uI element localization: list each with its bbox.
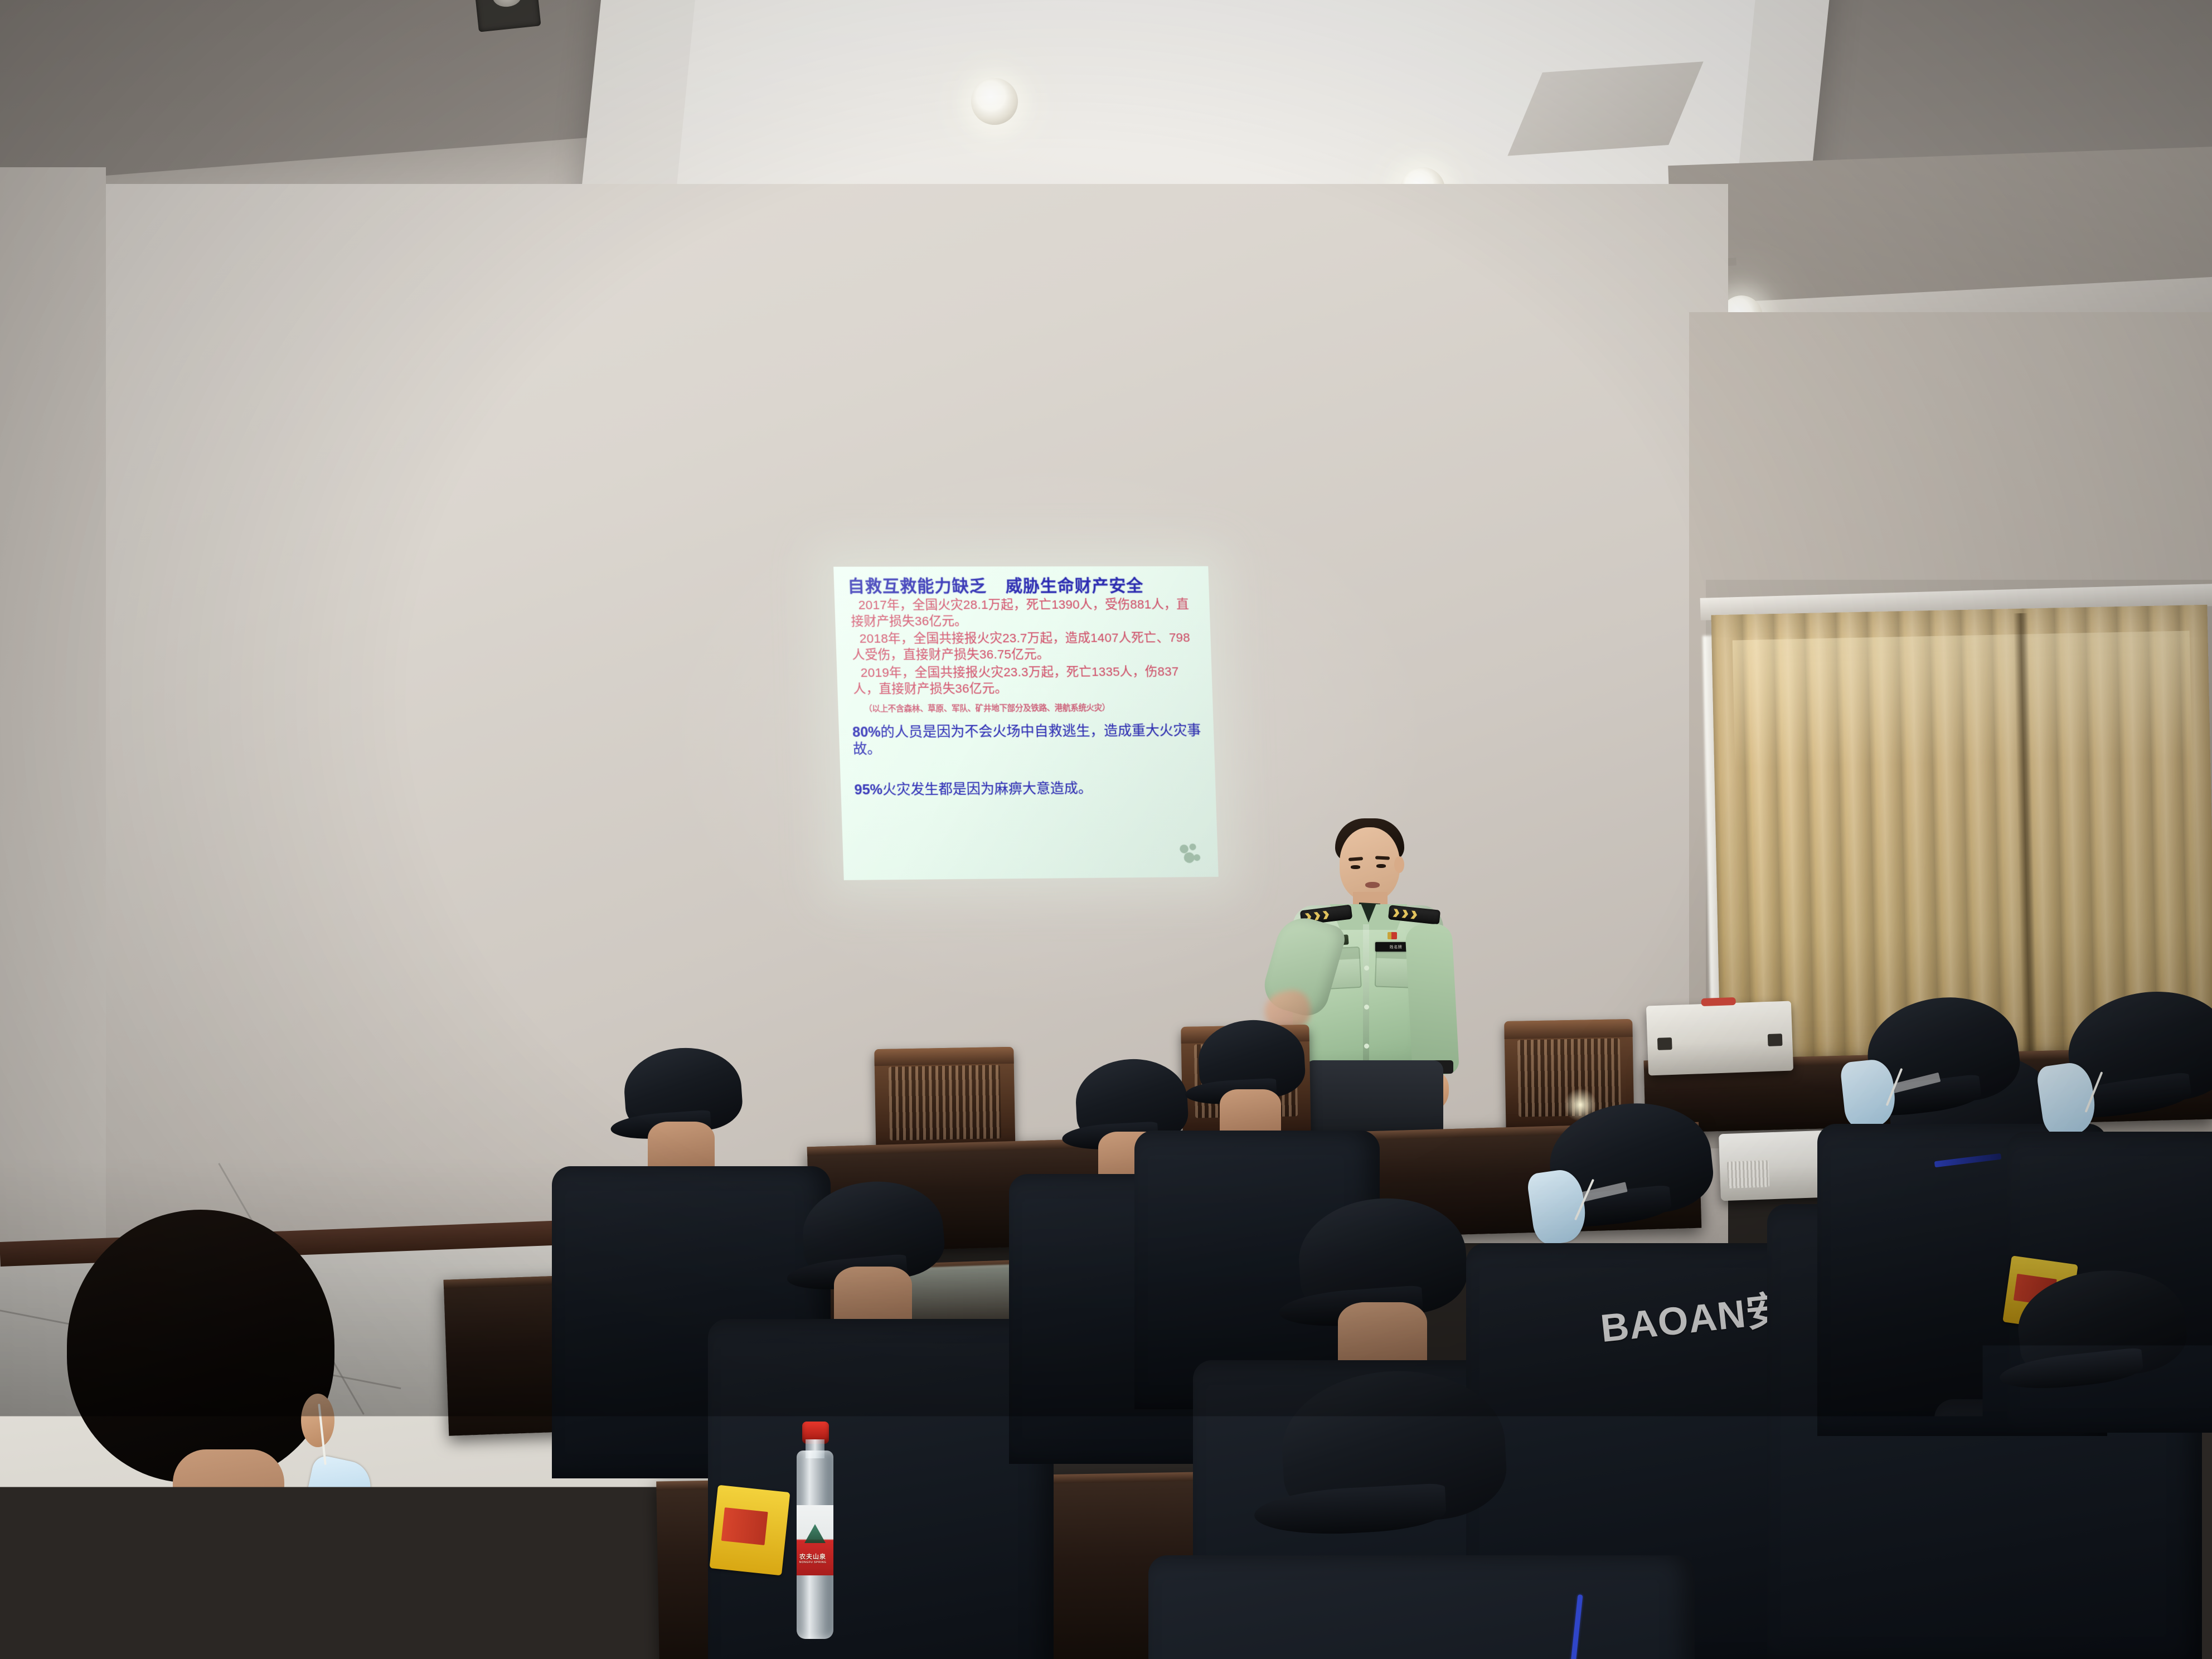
slide-stat-2017: 2017年，全国火灾28.1万起，死亡1390人，受伤881人，直接财产损失36… (850, 596, 1200, 629)
corner-emblem-icon (1174, 838, 1206, 869)
slide-highlight-95: 95%火灾发生都是因为麻痹大意造成。 (854, 780, 1206, 799)
slide-highlight-95-text: 火灾发生都是因为麻痹大意造成。 (882, 780, 1093, 798)
torso (1148, 1555, 1695, 1659)
civilian-shirt (0, 1533, 424, 1659)
slide-highlight-95-pct: 95% (854, 782, 882, 798)
presenter-head (1340, 827, 1400, 901)
speaker-lens-icon (492, 0, 522, 8)
slide-stat-2018: 2018年，全国共接报火灾23.7万起，造成1407人死亡、798人受伤，直接财… (851, 629, 1201, 663)
slide-content: 自救互救能力缺乏 威胁生命财产安全 2017年，全国火灾28.1万起，死亡139… (833, 566, 1219, 880)
presenter-arm-right (1405, 923, 1459, 1076)
neck (1338, 1302, 1427, 1369)
presenter-shirt-button (1364, 1005, 1369, 1010)
slide-title-right: 威胁生命财产安全 (1005, 578, 1143, 595)
presenter-shirt-button (1364, 1044, 1369, 1049)
presenter-mouth (1365, 882, 1380, 888)
slide-highlight-80: 80%的人员是因为不会火场中自救逃生，造成重大火灾事故。 (852, 722, 1205, 758)
ear (301, 1394, 334, 1447)
bottle-brand-name: 农夫山泉 NONGFU SPRING (794, 1552, 831, 1564)
slide-title-left: 自救互救能力缺乏 (847, 578, 987, 595)
slide-highlight-80-text: 的人员是因为不会火场中自救逃生，造成重大火灾事故。 (853, 722, 1201, 756)
water-bottle[interactable]: 农夫山泉 NONGFU SPRING (794, 1420, 836, 1639)
projector-case[interactable] (1646, 1001, 1793, 1076)
presenter-brow-right (1375, 856, 1390, 860)
downlight-icon-1 (971, 78, 1018, 125)
head (67, 1210, 334, 1483)
presenter-eye-right (1376, 864, 1386, 868)
slide-footnote: （以上不含森林、草原、军队、矿井地下部分及铁路、港航系统火灾） (864, 701, 1204, 715)
training-room-photo: 自救互救能力缺乏 威胁生命财产安全 2017年，全国火灾28.1万起，死亡139… (0, 0, 2212, 1659)
presenter-shirt-button (1364, 966, 1369, 971)
presenter-ear (1394, 856, 1404, 873)
presenter-flag-pin-icon (1388, 932, 1397, 939)
presenter-eye-left (1351, 865, 1360, 869)
slide-title: 自救互救能力缺乏 威胁生命财产安全 (847, 578, 1199, 596)
armband (710, 1485, 790, 1576)
presenter-shirt-placket (1363, 924, 1369, 1064)
left-wall (0, 167, 106, 1282)
slide-highlight-80-pct: 80% (852, 724, 881, 740)
slide-stat-2019: 2019年，全国共接报火灾23.3万起，死亡1335人，伤837人，直接财产损失… (852, 663, 1202, 697)
projected-slide-screen: 自救互救能力缺乏 威胁生命财产安全 2017年，全国火灾28.1万起，死亡139… (833, 566, 1219, 880)
